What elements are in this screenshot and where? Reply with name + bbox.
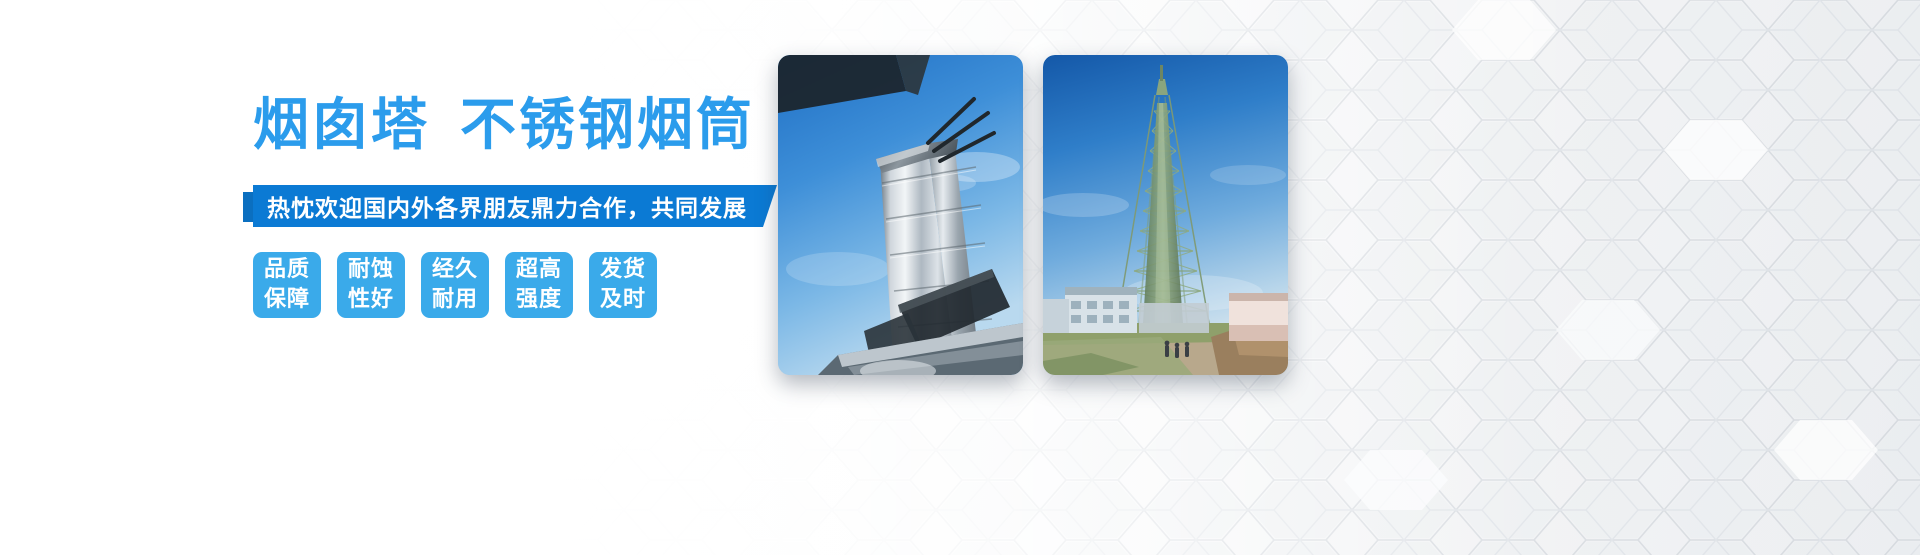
feature-badge[interactable]: 发货 及时 xyxy=(589,252,657,318)
badge-line-2: 耐用 xyxy=(432,285,478,315)
promo-banner: 烟囱塔不锈钢烟筒 热忱欢迎国内外各界朋友鼎力合作，共同发展 品质 保障 耐蚀 性… xyxy=(0,0,1920,555)
ribbon-notch xyxy=(243,192,253,222)
badge-line-1: 经久 xyxy=(432,255,478,285)
badge-line-1: 超高 xyxy=(516,255,562,285)
badge-line-2: 保障 xyxy=(264,285,310,315)
headline-part-2: 不锈钢烟筒 xyxy=(460,93,755,158)
feature-badge[interactable]: 超高 强度 xyxy=(505,252,573,318)
badge-line-1: 品质 xyxy=(264,255,310,285)
lattice-chimney-tower-photo[interactable] xyxy=(1043,55,1288,375)
slogan-text: 热忱欢迎国内外各界朋友鼎力合作，共同发展 xyxy=(267,189,759,223)
badge-line-2: 强度 xyxy=(516,285,562,315)
banner-headline: 烟囱塔不锈钢烟筒 xyxy=(253,94,755,158)
headline-part-1: 烟囱塔 xyxy=(253,93,430,158)
badge-line-2: 及时 xyxy=(600,285,646,315)
badge-line-1: 发货 xyxy=(600,255,646,285)
feature-badge[interactable]: 品质 保障 xyxy=(253,252,321,318)
badge-line-2: 性好 xyxy=(348,285,394,315)
stainless-steel-chimney-photo[interactable] xyxy=(778,55,1023,375)
ribbon-body: 热忱欢迎国内外各界朋友鼎力合作，共同发展 xyxy=(253,185,777,227)
feature-badge-list: 品质 保障 耐蚀 性好 经久 耐用 超高 强度 发货 及时 xyxy=(253,252,657,318)
feature-badge[interactable]: 经久 耐用 xyxy=(421,252,489,318)
feature-badge[interactable]: 耐蚀 性好 xyxy=(337,252,405,318)
badge-line-1: 耐蚀 xyxy=(348,255,394,285)
